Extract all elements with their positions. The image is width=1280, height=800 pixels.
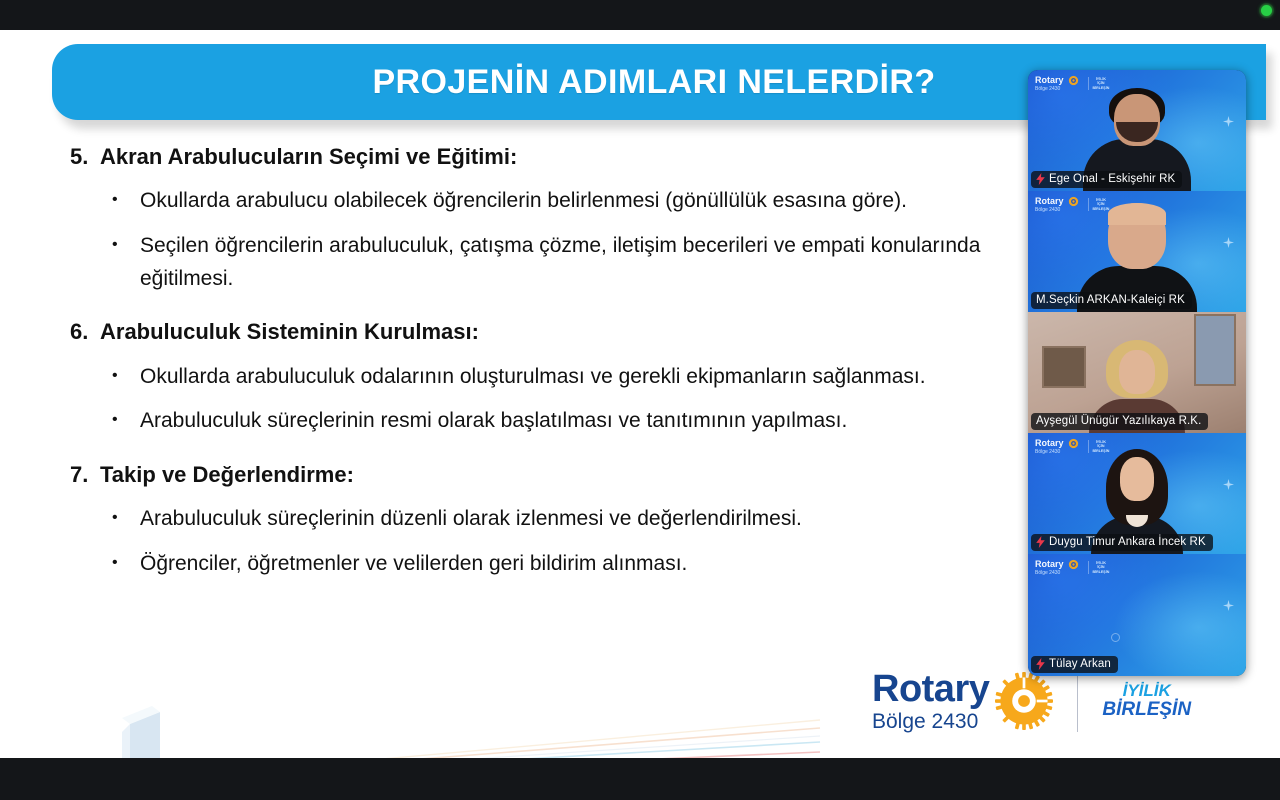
participant-tile-active-speaker[interactable]: Rotary Bölge 2430 İYİLİK İÇİN BİRLEŞİN bbox=[1028, 191, 1246, 312]
bolt-icon bbox=[1036, 173, 1045, 185]
prism-light-rays-graphic bbox=[120, 690, 840, 758]
slogan-top-text: İYİLİK bbox=[1102, 682, 1191, 700]
participant-name-tag: Tülay Arkan bbox=[1031, 656, 1118, 673]
step-number: 6. bbox=[58, 315, 100, 348]
slide-title: PROJENİN ADIMLARI NELERDİR? bbox=[372, 63, 935, 102]
slide-step: 7. Takip ve Değerlendirme: bbox=[58, 458, 1058, 491]
bolt-icon bbox=[1036, 536, 1045, 548]
bolt-icon bbox=[1036, 658, 1045, 670]
slide-bullet: • Okullarda arabulucu olabilecek öğrenci… bbox=[58, 185, 1058, 218]
participant-name-tag: Ayşegül Ünügür Yazılıkaya R.K. bbox=[1031, 413, 1208, 430]
bullet-text: Okullarda arabuluculuk odalarının oluştu… bbox=[140, 361, 1058, 394]
bullet-text: Okullarda arabulucu olabilecek öğrencile… bbox=[140, 185, 1058, 218]
participant-tile[interactable]: Ayşegül Ünügür Yazılıkaya R.K. bbox=[1028, 312, 1246, 433]
rotary-logo-lockup: Rotary Bölge 2430 bbox=[872, 670, 1191, 732]
slide-bullet: • Öğrenciler, öğretmenler ve velilerden … bbox=[58, 548, 1058, 581]
bullet-text: Arabuluculuk süreçlerinin düzenli olarak… bbox=[140, 503, 1058, 536]
bullet-glyph: • bbox=[112, 548, 140, 581]
bullet-glyph: • bbox=[112, 405, 140, 438]
participant-name: Ege Onal - Eskişehir RK bbox=[1049, 173, 1175, 185]
recording-indicator-dot bbox=[1261, 5, 1272, 16]
step-title: Akran Arabulucuların Seçimi ve Eğitimi: bbox=[100, 140, 1058, 173]
step-title: Arabuluculuk Sisteminin Kurulması: bbox=[100, 315, 1058, 348]
slide-step: 6. Arabuluculuk Sisteminin Kurulması: bbox=[58, 315, 1058, 348]
logo-divider bbox=[1077, 670, 1078, 732]
participant-name-tag: Duygu Timur Ankara İncek RK bbox=[1031, 534, 1213, 551]
rotary-district-text: Bölge 2430 bbox=[872, 711, 989, 732]
slide-bullet: • Arabuluculuk süreçlerinin resmi olarak… bbox=[58, 405, 1058, 438]
bullet-text: Öğrenciler, öğretmenler ve velilerden ge… bbox=[140, 548, 1058, 581]
ring-deco bbox=[1111, 633, 1120, 642]
participant-filmstrip[interactable]: Rotary Bölge 2430 İYİLİK İÇİN BİRLEŞİN bbox=[1028, 70, 1246, 676]
participant-tile[interactable]: Rotary Bölge 2430 İYİLİK İÇİN BİRLEŞİN bbox=[1028, 70, 1246, 191]
slide-content-list: 5. Akran Arabulucuların Seçimi ve Eğitim… bbox=[58, 138, 1058, 580]
participant-name-tag: Ege Onal - Eskişehir RK bbox=[1031, 171, 1182, 188]
participant-name-tag: M.Seçkin ARKAN-Kaleiçi RK bbox=[1031, 292, 1192, 309]
slide-bullet: • Seçilen öğrencilerin arabuluculuk, çat… bbox=[58, 230, 1058, 295]
slide-step: 5. Akran Arabulucuların Seçimi ve Eğitim… bbox=[58, 140, 1058, 173]
bullet-text: Seçilen öğrencilerin arabuluculuk, çatış… bbox=[140, 230, 1058, 295]
slide-bullet: • Arabuluculuk süreçlerinin düzenli olar… bbox=[58, 503, 1058, 536]
participant-tile[interactable]: Rotary Bölge 2430 İYİLİK İÇİN BİRLEŞİN bbox=[1028, 554, 1246, 676]
participant-name: Ayşegül Ünügür Yazılıkaya R.K. bbox=[1036, 415, 1201, 427]
compass-deco-icon bbox=[1223, 600, 1234, 611]
bullet-text: Arabuluculuk süreçlerinin resmi olarak b… bbox=[140, 405, 1058, 438]
step-number: 5. bbox=[58, 140, 100, 173]
meeting-window: PROJENİN ADIMLARI NELERDİR? 5. Akran Ara… bbox=[0, 0, 1280, 800]
participant-name: Duygu Timur Ankara İncek RK bbox=[1049, 536, 1206, 548]
step-title: Takip ve Değerlendirme: bbox=[100, 458, 1058, 491]
bullet-glyph: • bbox=[112, 361, 140, 394]
bullet-glyph: • bbox=[112, 503, 140, 536]
slogan-main-text: BİRLEŞİN bbox=[1102, 700, 1191, 720]
participant-tile[interactable]: Rotary Bölge 2430 İYİLİK İÇİN BİRLEŞİN bbox=[1028, 433, 1246, 554]
bullet-glyph: • bbox=[112, 185, 140, 218]
slide-bullet: • Okullarda arabuluculuk odalarının oluş… bbox=[58, 361, 1058, 394]
bullet-glyph: • bbox=[112, 230, 140, 295]
rotary-gear-icon bbox=[995, 672, 1053, 730]
rotary-wordmark-text: Rotary bbox=[872, 670, 989, 708]
participant-name: Tülay Arkan bbox=[1049, 658, 1111, 670]
step-number: 7. bbox=[58, 458, 100, 491]
participant-name: M.Seçkin ARKAN-Kaleiçi RK bbox=[1036, 294, 1185, 306]
